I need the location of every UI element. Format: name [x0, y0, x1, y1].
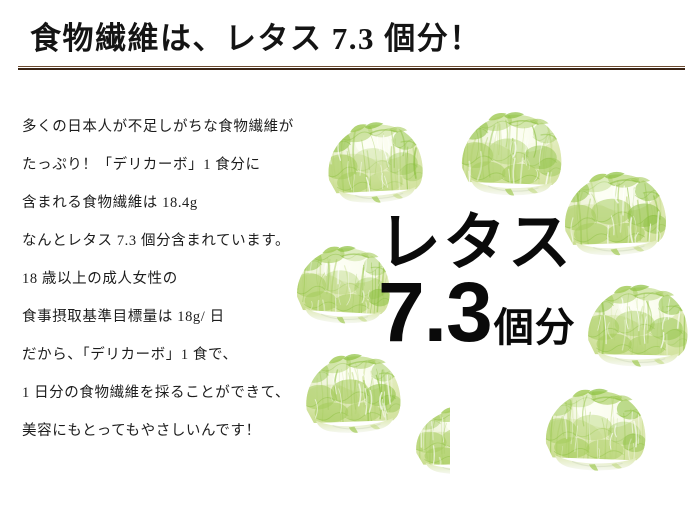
header: 食物繊維は、レタス 7.3 個分！: [0, 0, 700, 80]
body-copy-line: 18 歳以上の成人女性の: [22, 260, 352, 298]
headline-unit: 個分: [494, 308, 576, 348]
body-copy-line: なんとレタス 7.3 個分含まれています。: [22, 222, 352, 260]
divider-line-light: [18, 66, 685, 67]
lettuce-head-partial: [406, 392, 522, 484]
body-copy-line: 食事摂取基準目標量は 18g/ 日: [22, 298, 352, 336]
body-copy-line: 多くの日本人が不足しがちな食物繊維が: [22, 108, 352, 146]
lettuce-head-5: [577, 267, 697, 379]
poster-canvas: 食物繊維は、レタス 7.3 個分！ 多くの日本人が不足しがちな食物繊維がたっぷり…: [0, 0, 700, 525]
divider-line-dark: [18, 68, 685, 70]
headline-number: 7.3: [378, 270, 492, 354]
lettuce-head-7: [534, 370, 656, 484]
body-copy-line: 美容にもとってもやさしいんです！: [22, 412, 352, 450]
body-copy-line: たっぷり！「デリカーボ」1 食分に: [22, 146, 352, 184]
body-copy-line: 1 日分の食物繊維を採ることができて、: [22, 374, 352, 412]
page-title: 食物繊維は、レタス 7.3 個分！: [30, 13, 482, 58]
body-copy-block: 多くの日本人が不足しがちな食物繊維がたっぷり！「デリカーボ」1 食分に含まれる食…: [22, 108, 352, 450]
headline-overlay: レタス 7.3個分: [378, 212, 576, 354]
body-copy-line: だから、「デリカーボ」1 食で、: [22, 336, 352, 374]
title-divider-rule: [18, 66, 685, 71]
headline-amount-row: 7.3個分: [378, 270, 576, 354]
body-copy-line: 含まれる食物繊維は 18.4g: [22, 184, 352, 222]
